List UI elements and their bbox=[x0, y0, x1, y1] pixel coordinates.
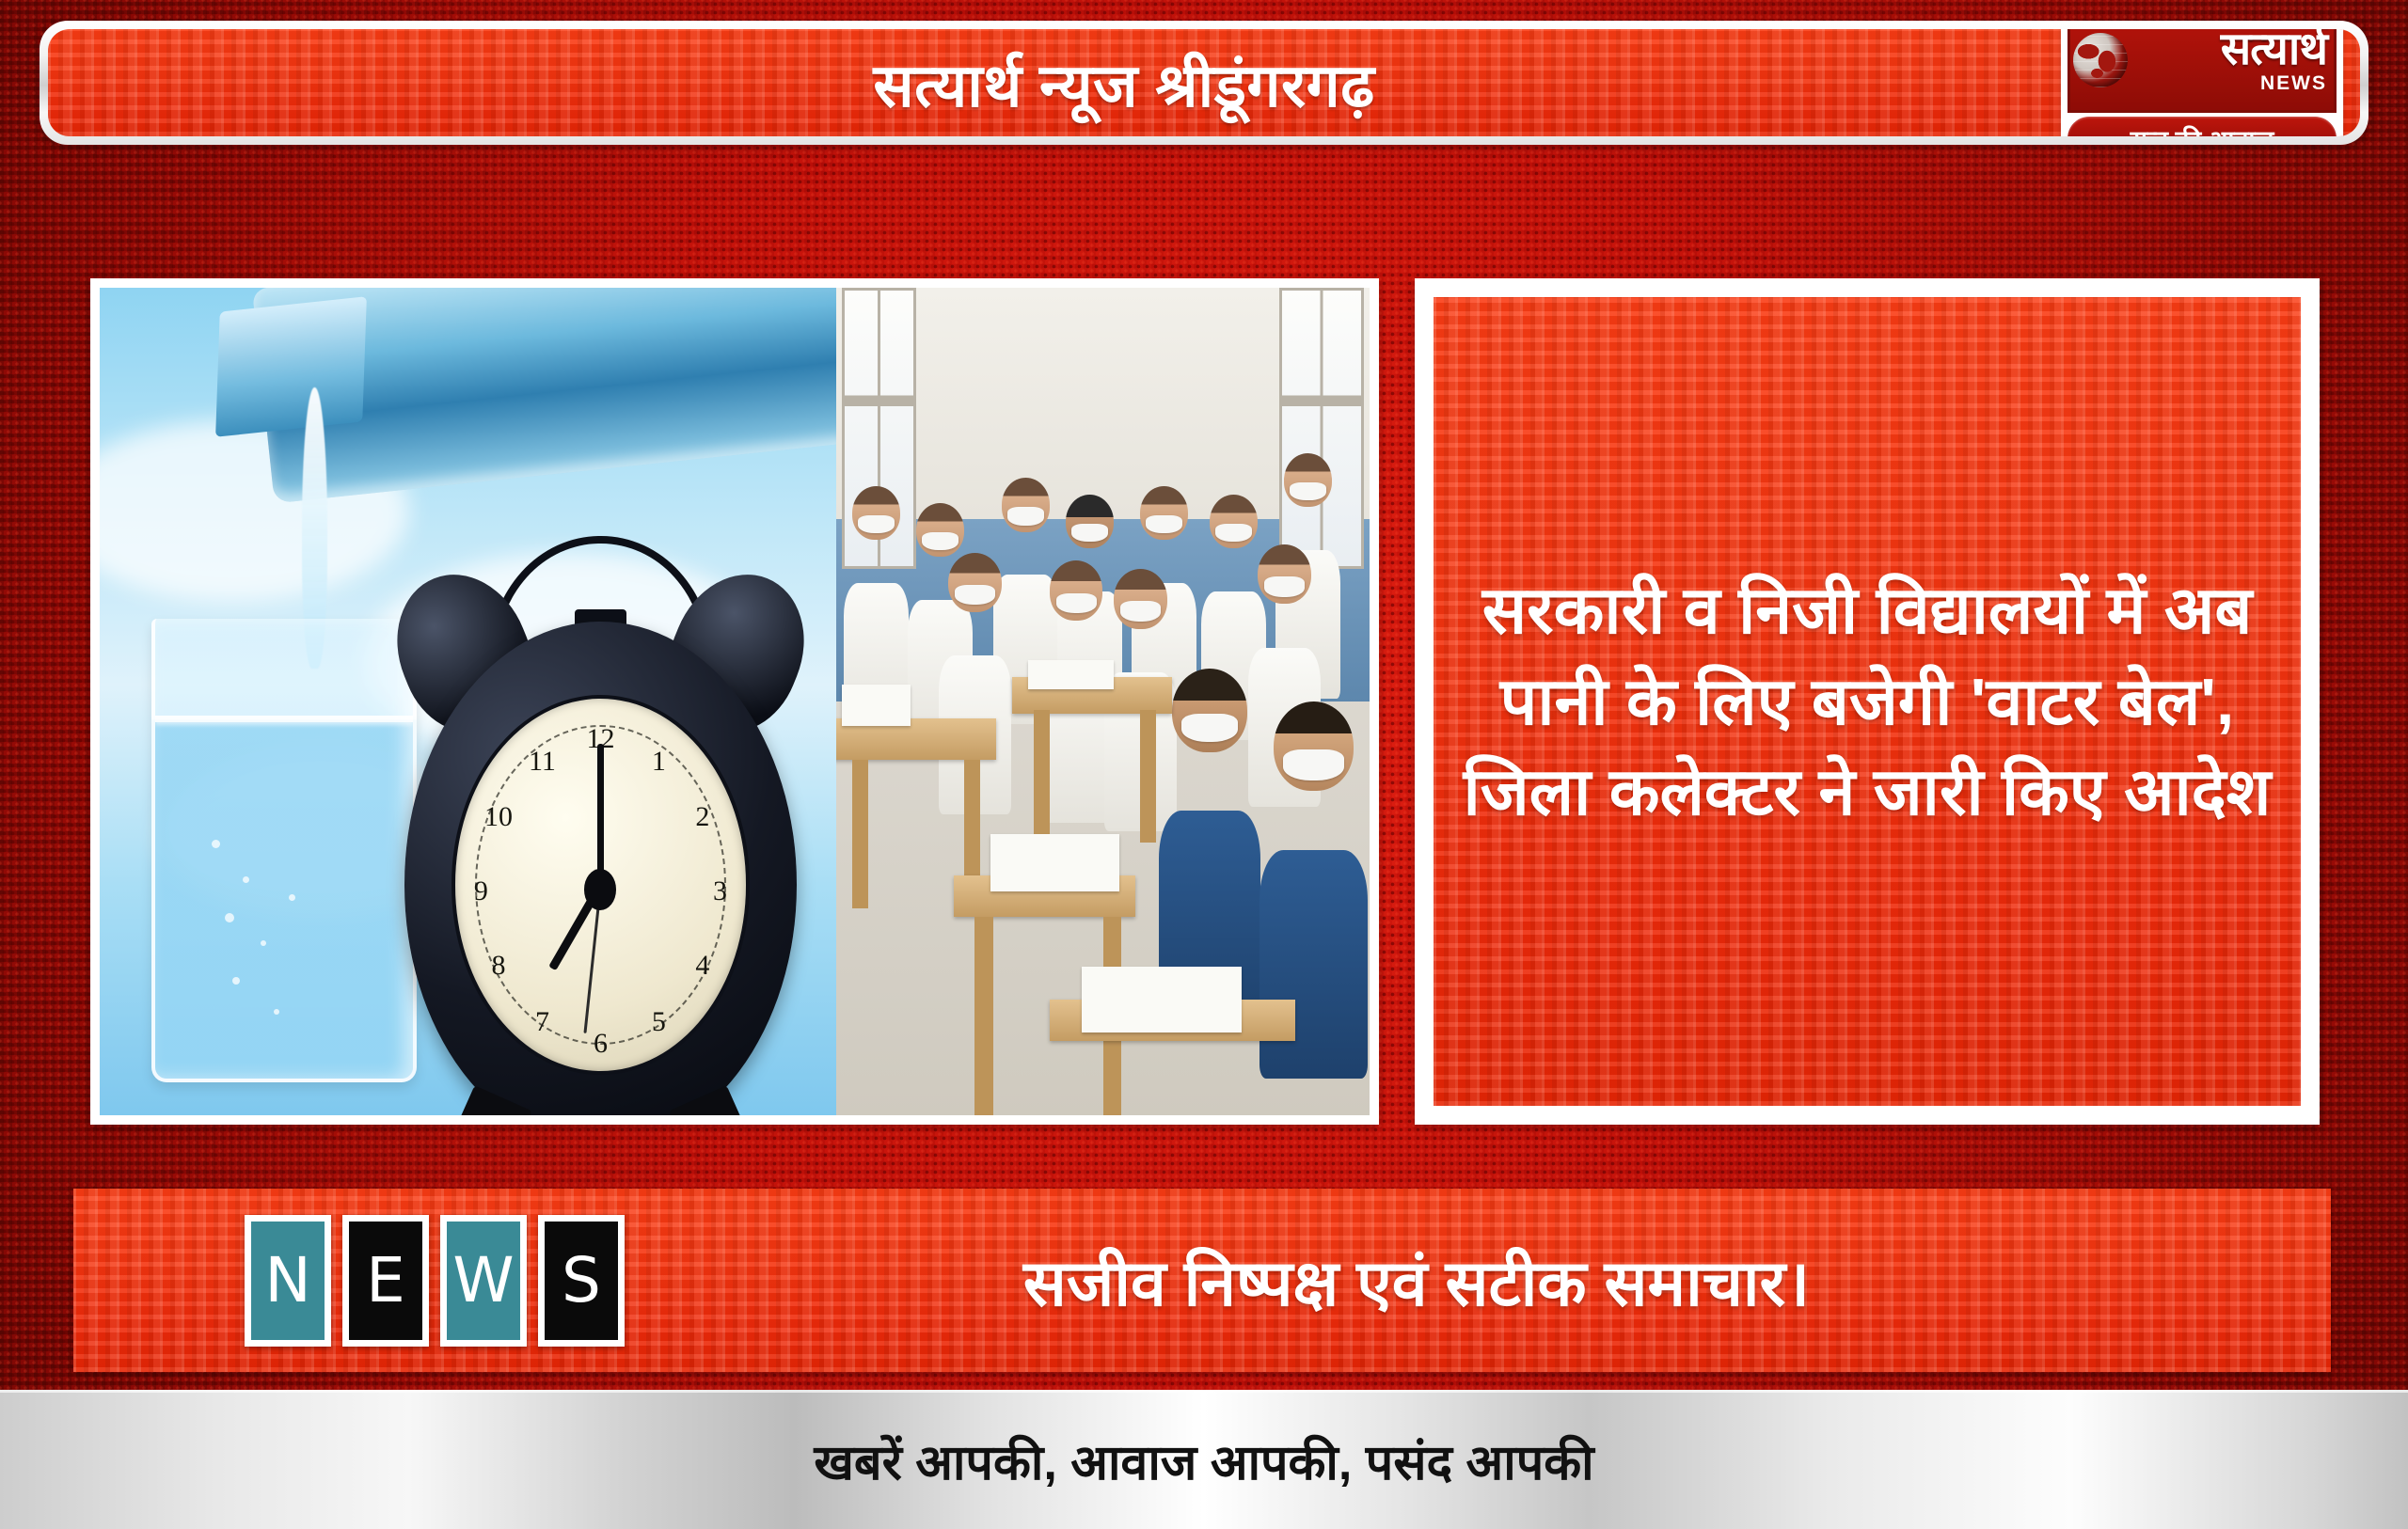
header-bar: सत्यार्थ न्यूज श्रीडूंगरगढ़ सत्यार्थ NEW… bbox=[40, 21, 2368, 145]
logo-word-text: सत्यार्थ bbox=[2221, 29, 2327, 72]
globe-icon bbox=[2073, 33, 2128, 87]
brand-logo[interactable]: सत्यार्थ NEWS सत्व की आवाज़ bbox=[2061, 29, 2343, 136]
news-tile-e: E bbox=[342, 1215, 429, 1347]
headline-box: सरकारी व निजी विद्यालयों में अब पानी के … bbox=[1415, 278, 2320, 1125]
alarm-clock-icon: 12 1 2 3 4 5 6 7 8 9 10 11 bbox=[387, 536, 814, 1115]
news-letter-tiles: N E W S bbox=[245, 1215, 625, 1347]
clock-center-pin bbox=[584, 869, 616, 910]
news-bar: N E W S सजीव निष्पक्ष एवं सटीक समाचार। bbox=[73, 1189, 2331, 1372]
water-glass-icon bbox=[151, 619, 417, 1082]
news-tagline: सजीव निष्पक्ष एवं सटीक समाचार। bbox=[625, 1237, 2331, 1324]
logo-news-label: NEWS bbox=[2260, 73, 2327, 93]
header-inner: सत्यार्थ न्यूज श्रीडूंगरगढ़ सत्यार्थ NEW… bbox=[48, 29, 2360, 136]
footer-text: खबरें आपकी, आवाज आपकी, पसंद आपकी bbox=[814, 1427, 1593, 1494]
news-poster: सत्यार्थ न्यूज श्रीडूंगरगढ़ सत्यार्थ NEW… bbox=[0, 0, 2408, 1529]
clock-numeral: 5 bbox=[636, 992, 683, 1051]
headline-inner: सरकारी व निजी विद्यालयों में अब पानी के … bbox=[1434, 297, 2301, 1106]
media-row: 12 1 2 3 4 5 6 7 8 9 10 11 bbox=[90, 278, 2320, 1125]
news-tile-letter: S bbox=[545, 1222, 618, 1340]
clock-numeral: 11 bbox=[519, 732, 566, 791]
clock-numeral: 10 bbox=[475, 787, 522, 846]
logo-wordmark: सत्यार्थ NEWS bbox=[2131, 29, 2331, 93]
classroom-photo bbox=[836, 288, 1370, 1115]
news-tile-letter: E bbox=[349, 1222, 422, 1340]
clock-numeral: 3 bbox=[697, 861, 744, 921]
photo-collage: 12 1 2 3 4 5 6 7 8 9 10 11 bbox=[100, 288, 1370, 1115]
news-tile-letter: N bbox=[251, 1222, 325, 1340]
clock-numeral: 8 bbox=[475, 937, 522, 996]
news-tile-s: S bbox=[538, 1215, 625, 1347]
clock-numeral: 9 bbox=[458, 861, 505, 921]
page-title: सत्यार्थ न्यूज श्रीडूंगरगढ़ bbox=[48, 42, 2360, 124]
footer-bar: खबरें आपकी, आवाज आपकी, पसंद आपकी bbox=[0, 1390, 2408, 1529]
clock-numeral: 7 bbox=[519, 992, 566, 1051]
clock-numeral: 1 bbox=[636, 732, 683, 791]
clock-minute-hand bbox=[597, 744, 604, 885]
photo-frame: 12 1 2 3 4 5 6 7 8 9 10 11 bbox=[90, 278, 1379, 1125]
news-tile-w: W bbox=[440, 1215, 527, 1347]
news-tile-n: N bbox=[245, 1215, 331, 1347]
water-clock-photo: 12 1 2 3 4 5 6 7 8 9 10 11 bbox=[100, 288, 836, 1115]
headline-text: सरकारी व निजी विद्यालयों में अब पानी के … bbox=[1458, 565, 2276, 838]
clock-dial: 12 1 2 3 4 5 6 7 8 9 10 11 bbox=[451, 695, 751, 1075]
clock-numeral: 4 bbox=[679, 937, 726, 996]
logo-primary-block: सत्यार्थ NEWS bbox=[2067, 29, 2337, 113]
news-tile-letter: W bbox=[447, 1222, 520, 1340]
clock-numeral: 2 bbox=[679, 787, 726, 846]
logo-tagline: सत्व की आवाज़ bbox=[2067, 117, 2337, 136]
